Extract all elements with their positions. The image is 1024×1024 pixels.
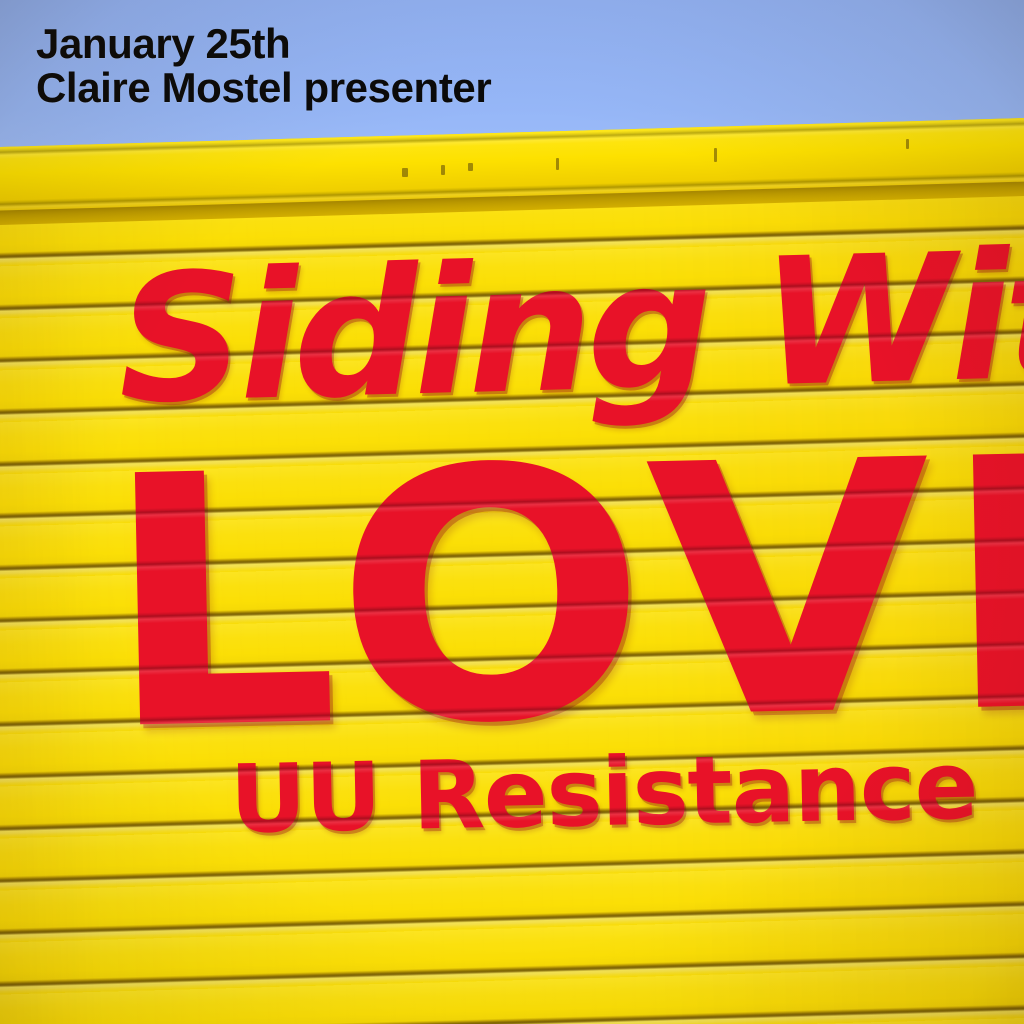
fascia-speck xyxy=(402,168,408,177)
fascia-speck xyxy=(556,158,559,170)
event-caption: January 25th Claire Mostel presenter xyxy=(36,22,491,109)
poster-image: January 25th Claire Mostel presenter Sid… xyxy=(0,0,1024,1024)
fascia-speck xyxy=(906,139,909,149)
fascia-speck xyxy=(441,165,445,175)
fascia-speck xyxy=(714,148,717,162)
event-presenter: Claire Mostel presenter xyxy=(36,66,491,110)
fascia-speck xyxy=(468,163,473,171)
event-date: January 25th xyxy=(36,22,491,66)
